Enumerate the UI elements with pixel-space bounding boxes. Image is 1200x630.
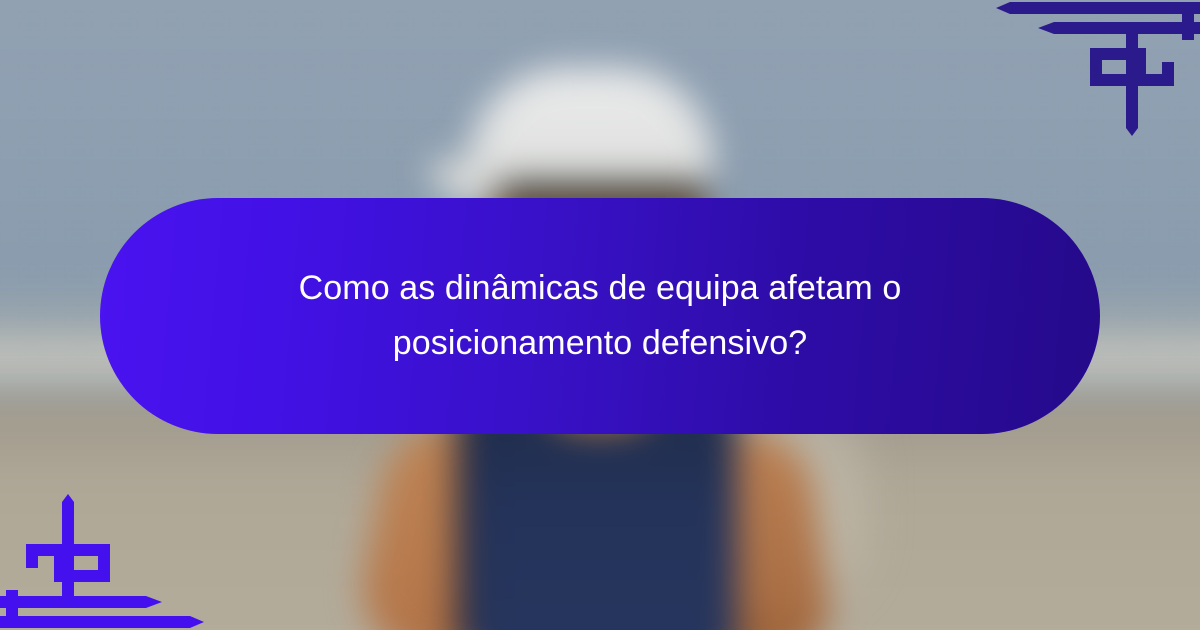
- question-text: Como as dinâmicas de equipa afetam o pos…: [250, 261, 950, 371]
- corner-ornament-bottom-left-icon: [0, 480, 250, 630]
- social-card-canvas: Como as dinâmicas de equipa afetam o pos…: [0, 0, 1200, 630]
- cap-crown: [468, 68, 714, 200]
- corner-ornament-top-right-icon: [950, 0, 1200, 150]
- question-card: Como as dinâmicas de equipa afetam o pos…: [100, 198, 1100, 434]
